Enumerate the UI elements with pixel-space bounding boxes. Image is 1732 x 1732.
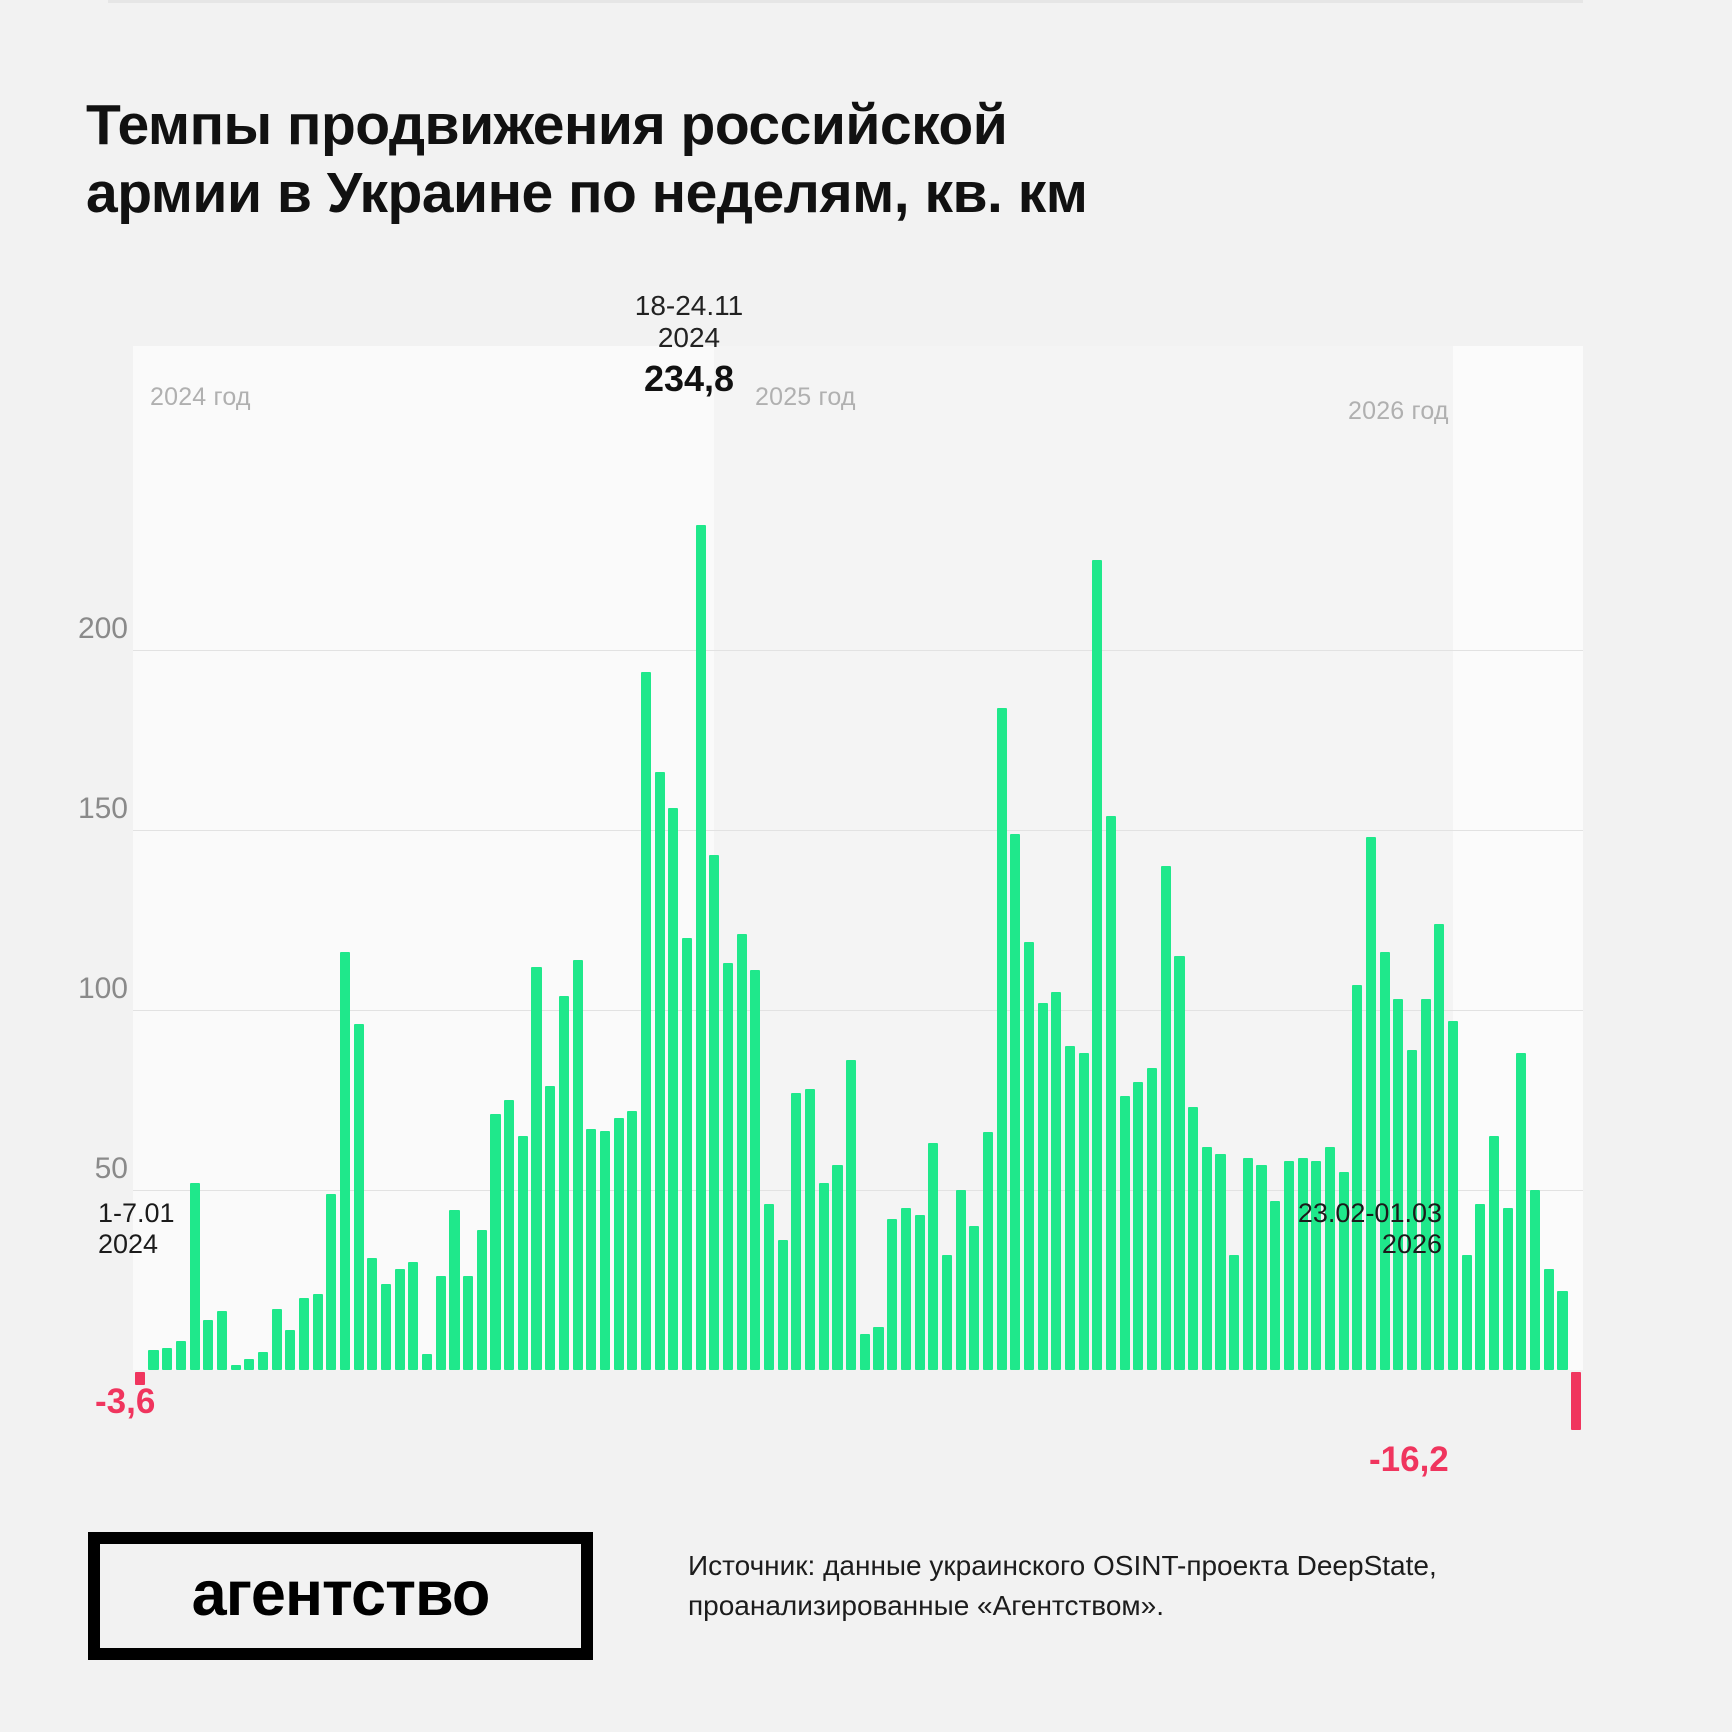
bar (381, 1284, 391, 1370)
bar (1352, 985, 1362, 1370)
bar (408, 1262, 418, 1370)
bar (1120, 1096, 1130, 1370)
bar (463, 1276, 473, 1370)
bar (600, 1131, 610, 1370)
logo-frame: агентство (100, 1544, 581, 1648)
bar (750, 970, 760, 1370)
bar (1202, 1147, 1212, 1370)
bar (340, 952, 350, 1370)
bar (1038, 1003, 1048, 1370)
bar (1475, 1204, 1485, 1370)
bar (1174, 956, 1184, 1370)
bar (285, 1330, 295, 1370)
bar (354, 1024, 364, 1370)
y-axis-tick: 150 (0, 792, 128, 826)
bar (545, 1086, 555, 1370)
year-label-2026: 2026 год (1348, 397, 1449, 426)
bar (436, 1276, 446, 1370)
bar (244, 1359, 254, 1370)
bar (258, 1352, 268, 1370)
bar (1215, 1154, 1225, 1370)
bar (504, 1100, 514, 1370)
bar (1270, 1201, 1280, 1370)
bar (1161, 866, 1171, 1370)
bar (162, 1348, 172, 1370)
y-axis-tick: 100 (0, 972, 128, 1006)
y-axis-tick: 200 (0, 612, 128, 646)
last-week-annotation: 23.02-01.03 2026 (1298, 1198, 1442, 1260)
bar (819, 1183, 829, 1370)
bar (231, 1365, 241, 1370)
bar (1133, 1082, 1143, 1370)
bar (190, 1183, 200, 1370)
bar (1106, 816, 1116, 1370)
first-week-value: -3,6 (95, 1382, 155, 1422)
bar (1229, 1255, 1239, 1370)
bar (1544, 1269, 1554, 1370)
logo-text: агентство (192, 1563, 490, 1626)
bar (1462, 1255, 1472, 1370)
first-week-dates: 1-7.01 (98, 1198, 175, 1229)
bar (176, 1341, 186, 1370)
last-week-year: 2026 (1298, 1229, 1442, 1260)
bar (1024, 942, 1034, 1370)
bar (723, 963, 733, 1370)
bar (477, 1230, 487, 1370)
bar (655, 772, 665, 1370)
bar (148, 1350, 158, 1370)
bar (1489, 1136, 1499, 1370)
bar (573, 960, 583, 1370)
bar (586, 1129, 596, 1370)
bar (1243, 1158, 1253, 1370)
bar (217, 1311, 227, 1370)
bar (1092, 560, 1102, 1370)
bar (915, 1215, 925, 1370)
bar (395, 1269, 405, 1370)
bar (997, 708, 1007, 1370)
bar (1010, 834, 1020, 1370)
bar (1557, 1291, 1567, 1370)
bar (778, 1240, 788, 1370)
bar (805, 1089, 815, 1370)
peak-annotation-value: 234,8 (559, 358, 819, 399)
bar (1051, 992, 1061, 1370)
bar (1311, 1161, 1321, 1370)
bar (1516, 1053, 1526, 1370)
bar (1434, 924, 1444, 1370)
peak-annotation-year: 2024 (559, 322, 819, 354)
bar (1503, 1208, 1513, 1370)
peak-annotation: 18-24.11 2024 234,8 (559, 290, 819, 399)
bar (531, 967, 541, 1370)
bar (737, 934, 747, 1370)
bar (668, 808, 678, 1370)
bar (709, 855, 719, 1370)
infographic-root: Темпы продвижения российской армии в Укр… (0, 0, 1732, 1732)
bar-chart: 50100150200 2024 год 2025 год 2026 год 1… (0, 0, 1732, 1460)
bar (956, 1190, 966, 1370)
bar (1298, 1158, 1308, 1370)
bar (299, 1298, 309, 1370)
bar (1393, 999, 1403, 1370)
bar (887, 1219, 897, 1370)
last-week-value: -16,2 (1369, 1440, 1449, 1480)
bar (764, 1204, 774, 1370)
bar (696, 525, 706, 1370)
bar (313, 1294, 323, 1370)
bar (1530, 1190, 1540, 1370)
bar (367, 1258, 377, 1370)
first-week-year: 2024 (98, 1229, 175, 1260)
first-week-annotation: 1-7.01 2024 (98, 1198, 175, 1260)
bar (846, 1060, 856, 1370)
bar (326, 1194, 336, 1370)
bar (901, 1208, 911, 1370)
bar (873, 1327, 883, 1370)
year-label-2024: 2024 год (150, 383, 251, 412)
bar (272, 1309, 282, 1370)
bar (1421, 999, 1431, 1370)
bar (969, 1226, 979, 1370)
bar (422, 1354, 432, 1370)
bar (490, 1114, 500, 1370)
bar (203, 1320, 213, 1370)
bar (559, 996, 569, 1370)
bar (1065, 1046, 1075, 1370)
bar (641, 672, 651, 1370)
bar (1366, 837, 1376, 1370)
bar (1448, 1021, 1458, 1370)
bar (627, 1111, 637, 1370)
bar (983, 1132, 993, 1370)
peak-annotation-dates: 18-24.11 (559, 290, 819, 322)
bar (832, 1165, 842, 1370)
bar (860, 1334, 870, 1370)
source-note: Источник: данные украинского OSINT-проек… (688, 1546, 1608, 1626)
last-week-dates: 23.02-01.03 (1298, 1198, 1442, 1229)
bar (1079, 1053, 1089, 1370)
agentstvo-logo: агентство (88, 1532, 593, 1660)
bar (1188, 1107, 1198, 1370)
bar (942, 1255, 952, 1370)
bar (1147, 1068, 1157, 1370)
y-axis-tick: 50 (0, 1152, 128, 1186)
bar (928, 1143, 938, 1370)
bar (1380, 952, 1390, 1370)
zero-baseline (108, 0, 1583, 3)
bar (791, 1093, 801, 1370)
bar (1284, 1161, 1294, 1370)
bar (682, 938, 692, 1370)
bar (1571, 1372, 1581, 1430)
bar (449, 1210, 459, 1370)
bar (614, 1118, 624, 1370)
bar (1256, 1165, 1266, 1370)
bar (518, 1136, 528, 1370)
